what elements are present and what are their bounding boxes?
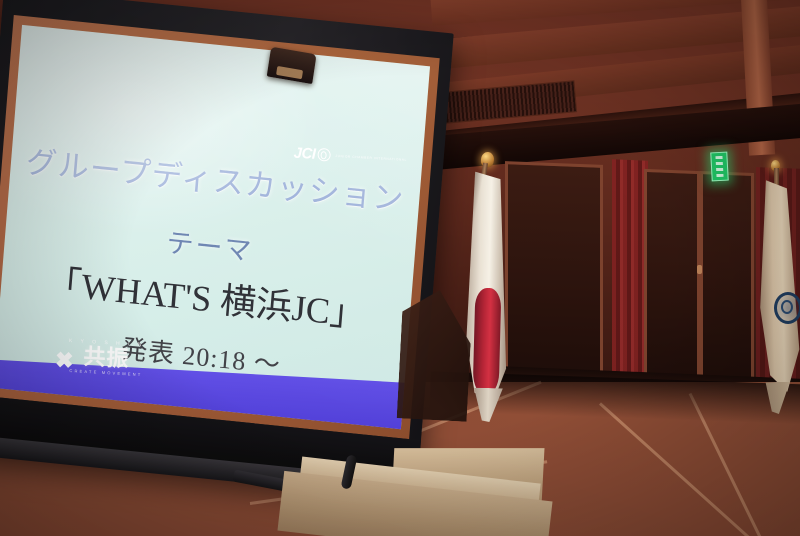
jci-flag-emblem-icon bbox=[774, 292, 800, 324]
japanese-flag-hinomaru-disc bbox=[473, 288, 502, 397]
carpet-leaf-line-3 bbox=[599, 402, 764, 536]
kyoshin-logo: ✖ K Y O S H I N 共振 CREATE MOVEMENT bbox=[53, 338, 160, 386]
jci-logo-wordmark: JCI bbox=[293, 145, 315, 163]
wall-door-panel-2 bbox=[644, 169, 700, 383]
projection-screen-unit: グループディスカッション テーマ 「WHAT'S 横浜JC」 発表 20:18 … bbox=[0, 0, 454, 502]
jci-logo-tagline: JUNIOR CHAMBER INTERNATIONAL bbox=[335, 153, 407, 161]
conference-room-photo: グループディスカッション テーマ 「WHAT'S 横浜JC」 発表 20:18 … bbox=[0, 0, 800, 536]
jci-logo-mark-icon bbox=[317, 148, 330, 162]
wall-door-panel-3 bbox=[700, 171, 754, 385]
door-knob bbox=[697, 265, 702, 274]
red-curtain-left bbox=[612, 159, 648, 389]
presentation-slide: グループディスカッション テーマ 「WHAT'S 横浜JC」 発表 20:18 … bbox=[0, 25, 430, 429]
exit-sign-icon bbox=[710, 152, 728, 182]
wall-door-panel-1 bbox=[505, 161, 603, 383]
projection-screen-border: グループディスカッション テーマ 「WHAT'S 横浜JC」 発表 20:18 … bbox=[0, 15, 440, 439]
